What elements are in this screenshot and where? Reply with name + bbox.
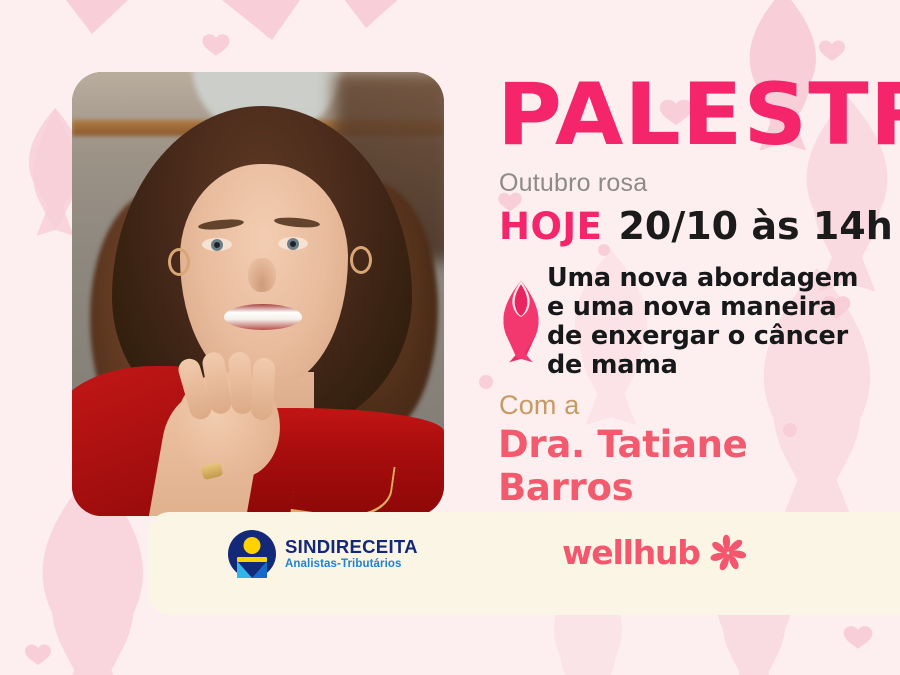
poster-canvas: PALESTRA Outubro rosa HOJE20/10 às 14h U… xyxy=(0,0,900,675)
wellhub-logo: wellhub xyxy=(562,533,747,572)
sindireceita-name: SINDIRECEITA xyxy=(285,538,418,557)
sindireceita-logo: SINDIRECEITA Analistas-Tributários xyxy=(228,530,418,578)
wellhub-name: wellhub xyxy=(562,533,700,572)
photo-eye-left xyxy=(202,238,232,251)
photo-mouth xyxy=(224,304,302,330)
topic-text: Uma nova abordagem e uma nova maneira de… xyxy=(547,264,877,379)
event-date-time: 20/10 às 14h xyxy=(618,204,892,248)
with-label: Com a xyxy=(499,390,887,421)
topic-block: Uma nova abordagem e uma nova maneira de… xyxy=(497,264,887,382)
speaker-photo xyxy=(72,72,444,516)
photo-nose xyxy=(248,258,276,292)
sindireceita-mark-icon xyxy=(228,530,276,578)
pink-ribbon-icon xyxy=(493,278,549,364)
page-title: PALESTRA xyxy=(497,76,899,155)
photo-eye-right xyxy=(278,237,308,250)
wellhub-pinwheel-icon xyxy=(709,534,747,572)
photo-finger-4 xyxy=(250,357,275,420)
sindireceita-wordmark: SINDIRECEITA Analistas-Tributários xyxy=(285,538,418,571)
photo-earring-left xyxy=(168,248,190,276)
text-column: PALESTRA Outubro rosa HOJE20/10 às 14h U… xyxy=(497,76,887,509)
campaign-subtitle: Outubro rosa xyxy=(499,169,887,198)
sindireceita-tagline: Analistas-Tributários xyxy=(285,559,418,571)
speaker-name: Dra. Tatiane Barros xyxy=(498,423,887,509)
today-label: HOJE xyxy=(499,205,602,248)
photo-earring-right xyxy=(350,246,372,274)
event-dateline: HOJE20/10 às 14h xyxy=(499,204,887,248)
